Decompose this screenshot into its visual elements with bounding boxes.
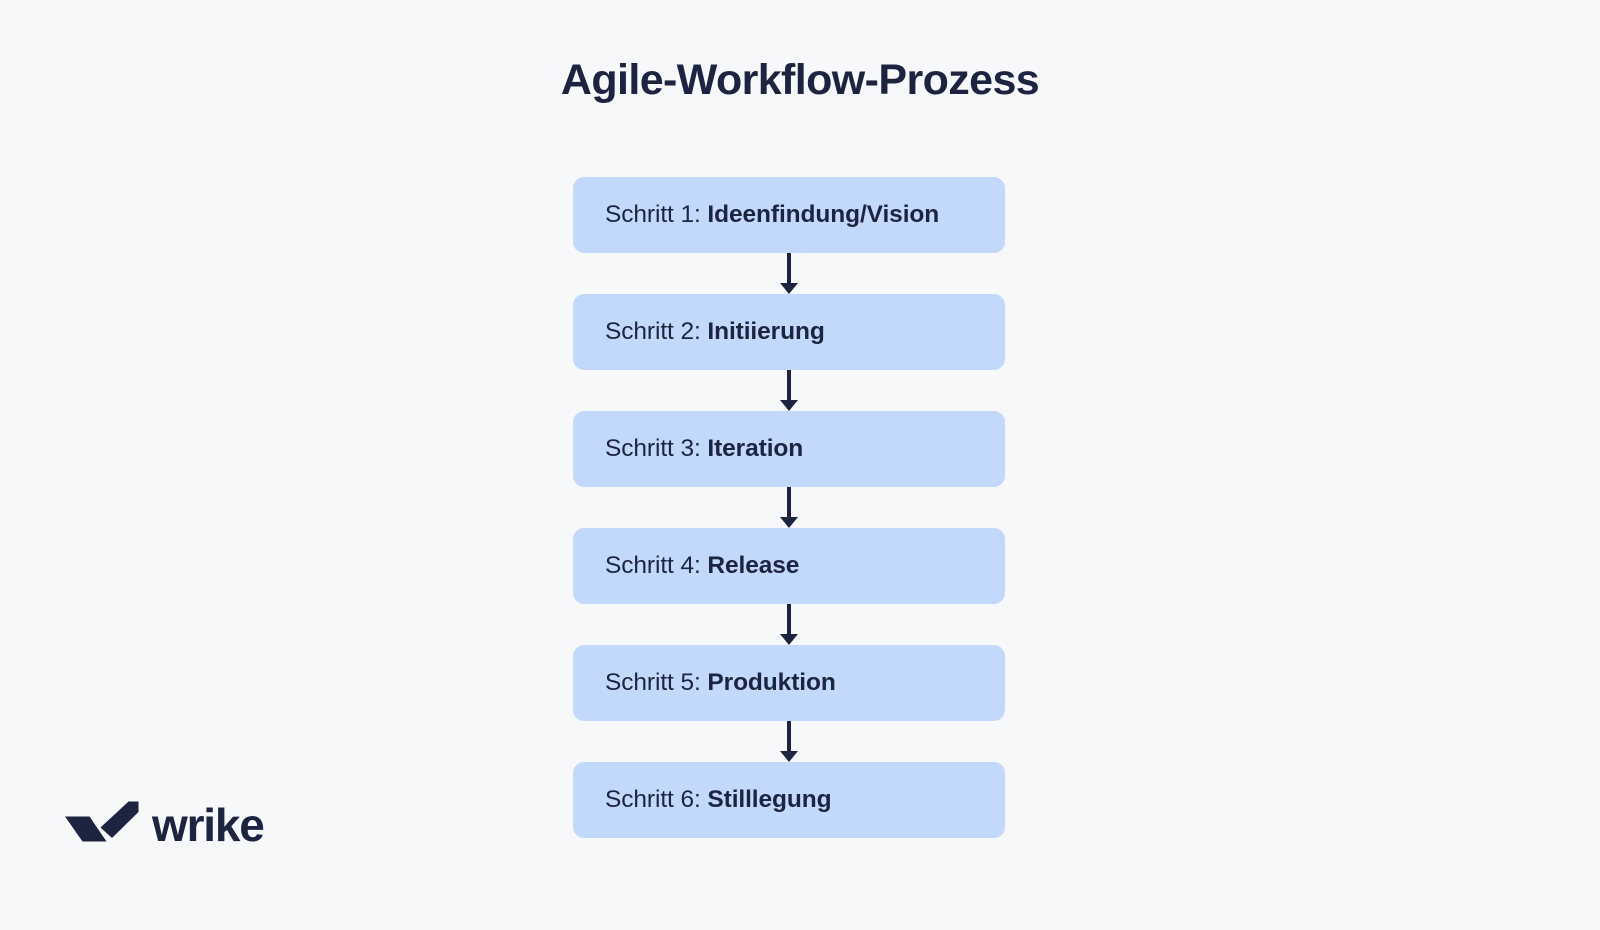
workflow-flowchart: Schritt 1: Ideenfindung/VisionSchritt 2:…: [573, 177, 1005, 838]
diagram-canvas: Agile-Workflow-Prozess Schritt 1: Ideenf…: [0, 0, 1600, 930]
flow-step-3[interactable]: Schritt 3: Iteration: [573, 411, 1005, 487]
flow-step-term-1: Ideenfindung/Vision: [707, 201, 939, 228]
flow-step-lead-3: Schritt 3:: [605, 435, 707, 462]
arrow-down-icon: [779, 721, 799, 762]
flow-step-4[interactable]: Schritt 4: Release: [573, 528, 1005, 604]
flow-step-lead-2: Schritt 2:: [605, 318, 707, 345]
page-title: Agile-Workflow-Prozess: [0, 56, 1600, 105]
arrow-down-icon: [779, 253, 799, 294]
flow-step-5[interactable]: Schritt 5: Produktion: [573, 645, 1005, 721]
flow-step-lead-4: Schritt 4:: [605, 552, 707, 579]
wrike-wordmark: wrike: [152, 802, 264, 848]
flow-connector-2: [573, 370, 1005, 411]
arrow-down-icon: [779, 487, 799, 528]
flow-connector-4: [573, 604, 1005, 645]
flow-step-term-3: Iteration: [707, 435, 803, 462]
flow-connector-3: [573, 487, 1005, 528]
arrow-down-icon: [779, 604, 799, 645]
flow-step-lead-5: Schritt 5:: [605, 669, 707, 696]
flow-step-label-5: Schritt 5: Produktion: [605, 671, 836, 696]
flow-step-term-4: Release: [707, 552, 799, 579]
flow-step-label-4: Schritt 4: Release: [605, 554, 799, 579]
flow-step-label-6: Schritt 6: Stilllegung: [605, 788, 832, 813]
flow-connector-5: [573, 721, 1005, 762]
flow-step-label-3: Schritt 3: Iteration: [605, 437, 803, 462]
flow-step-label-1: Schritt 1: Ideenfindung/Vision: [605, 203, 939, 228]
wrike-logo: wrike: [65, 798, 264, 851]
wrike-checkmark-icon: [65, 798, 139, 851]
flow-step-1[interactable]: Schritt 1: Ideenfindung/Vision: [573, 177, 1005, 253]
flow-step-term-5: Produktion: [707, 669, 835, 696]
flow-step-label-2: Schritt 2: Initiierung: [605, 320, 825, 345]
flow-step-lead-1: Schritt 1:: [605, 201, 707, 228]
flow-step-lead-6: Schritt 6:: [605, 786, 707, 813]
arrow-down-icon: [779, 370, 799, 411]
flow-connector-1: [573, 253, 1005, 294]
flow-step-2[interactable]: Schritt 2: Initiierung: [573, 294, 1005, 370]
flow-step-6[interactable]: Schritt 6: Stilllegung: [573, 762, 1005, 838]
flow-step-term-6: Stilllegung: [707, 786, 831, 813]
flow-step-term-2: Initiierung: [707, 318, 824, 345]
